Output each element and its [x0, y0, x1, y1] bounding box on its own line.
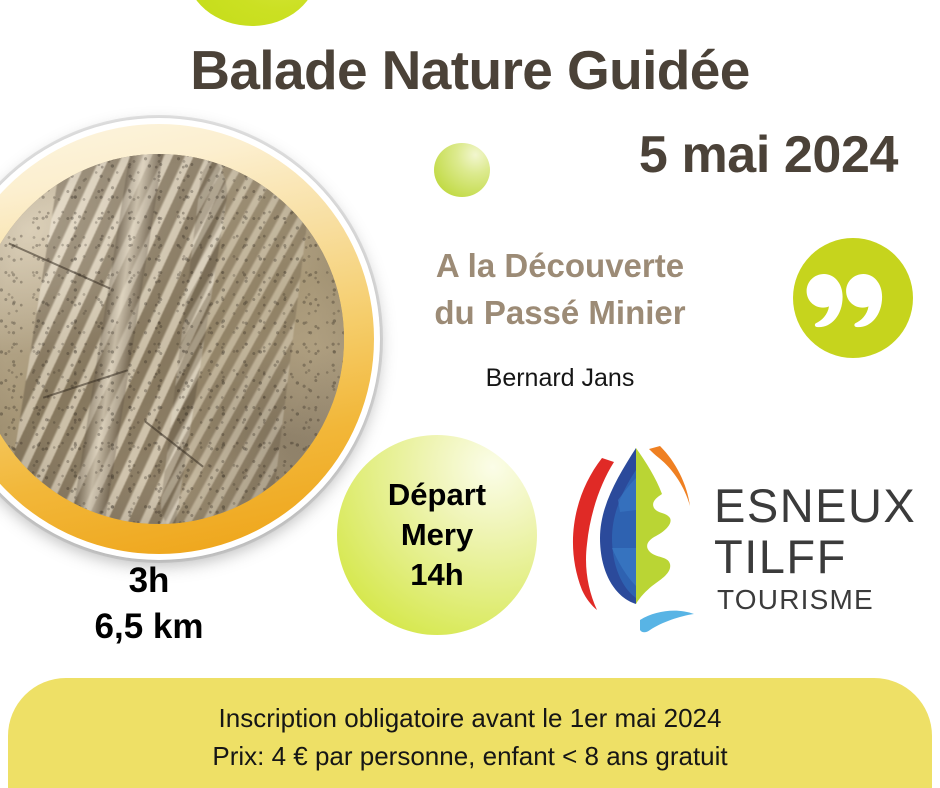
boot-print-photo [0, 154, 344, 524]
departure-time: 14h [410, 557, 463, 593]
poster-canvas: Balade Nature Guidée 5 mai 2024 A la Déc… [0, 0, 940, 788]
departure-label: Départ [388, 477, 486, 513]
logo-line-esneux: ESNEUX [714, 482, 916, 529]
subtitle-line-2: du Passé Minier [360, 290, 760, 337]
stat-duration: 3h [18, 558, 280, 604]
departure-place: Mery [401, 517, 473, 553]
quote-badge [793, 238, 913, 358]
esneux-tilff-tourisme-logo: ESNEUX TILFF TOURISME [556, 440, 926, 640]
registration-banner: Inscription obligatoire avant le 1er mai… [8, 678, 932, 788]
guide-name: Bernard Jans [360, 364, 760, 393]
water-droplet-leaf-logo-icon [556, 440, 716, 640]
registration-deadline: Inscription obligatoire avant le 1er mai… [219, 703, 722, 734]
quotation-mark-icon [793, 238, 913, 358]
departure-bubble: Départ Mery 14h [337, 435, 537, 635]
subtitle-line-1: A la Découverte [360, 243, 760, 290]
event-date: 5 mai 2024 [639, 125, 898, 185]
registration-price: Prix: 4 € par personne, enfant < 8 ans g… [212, 741, 727, 772]
logo-line-tilff: TILFF [714, 533, 916, 580]
logo-line-tourisme: TOURISME [717, 586, 916, 614]
decorative-green-blob-top [186, 0, 318, 26]
poster-subtitle: A la Découverte du Passé Minier [360, 243, 760, 337]
stat-distance: 6,5 km [18, 604, 280, 650]
poster-title: Balade Nature Guidée [0, 38, 940, 102]
walk-stats: 3h 6,5 km [18, 558, 280, 649]
decorative-green-dot [434, 143, 490, 197]
logo-wordmark: ESNEUX TILFF TOURISME [714, 482, 916, 614]
photo-medallion [0, 118, 380, 560]
